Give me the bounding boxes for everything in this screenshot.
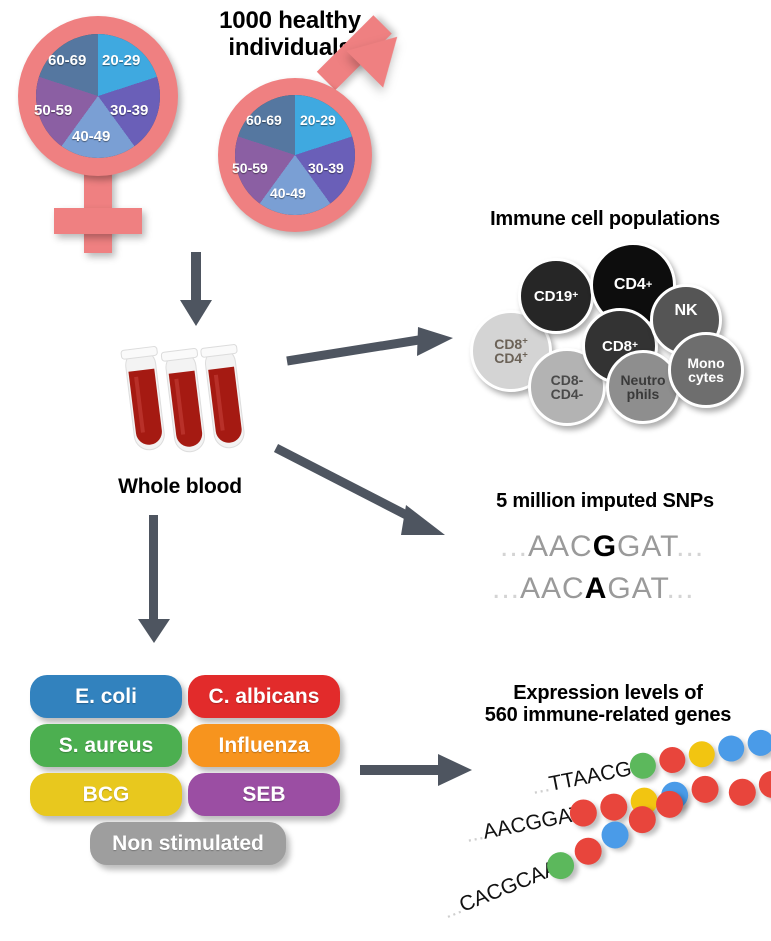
bead-red bbox=[726, 776, 758, 808]
stimulation-seb[interactable]: SEB bbox=[188, 773, 340, 816]
arrow-blood-to-stimulations bbox=[132, 515, 176, 645]
cell-label: CD8 bbox=[602, 339, 632, 354]
male-pie-label-30-39: 30-39 bbox=[308, 160, 344, 176]
cell-label: CD19 bbox=[534, 289, 572, 304]
pie-label-60-69: 60-69 bbox=[48, 52, 86, 69]
arrow-blood-to-snps bbox=[273, 443, 453, 543]
snp-sequence-row-2: ...AACAGAT... bbox=[492, 572, 695, 606]
snp-suffix: GAT bbox=[617, 530, 676, 563]
snp-lead-dots: ... bbox=[500, 530, 528, 563]
pie-label-50-59: 50-59 bbox=[34, 102, 72, 119]
arrow-cohort-to-blood bbox=[176, 252, 216, 328]
stimulation-panel: E. coli C. albicans S. aureus Influenza … bbox=[30, 675, 350, 895]
male-pie-label-20-29: 20-29 bbox=[300, 112, 336, 128]
stimulation-bcg[interactable]: BCG bbox=[30, 773, 182, 816]
stimulation-e-coli[interactable]: E. coli bbox=[30, 675, 182, 718]
stimulation-s-aureus[interactable]: S. aureus bbox=[30, 724, 182, 767]
strand-sequence: ...CACGCAA bbox=[440, 856, 562, 924]
cell-label-line1: Neutro bbox=[620, 373, 665, 387]
snp-prefix: AAC bbox=[528, 530, 593, 563]
female-cross-bar bbox=[54, 208, 142, 234]
snps-title: 5 million imputed SNPs bbox=[450, 490, 760, 512]
cell-cd19pos: CD19+ bbox=[518, 258, 594, 334]
snp-lead-dots: ... bbox=[492, 572, 520, 605]
bead-blue bbox=[716, 733, 746, 763]
snp-trail-dots: ... bbox=[667, 572, 695, 605]
stimulation-label: S. aureus bbox=[59, 734, 154, 758]
bead-yellow bbox=[687, 739, 717, 769]
whole-blood-label: Whole blood bbox=[80, 475, 280, 499]
expression-strands-group: ...TTAACGG ...AACGGAT ...CACGCAA bbox=[455, 740, 771, 920]
immune-cell-cluster: CD8+ CD4+ CD8- CD4- CD19+ CD4+ CD8+ NK N… bbox=[470, 240, 745, 425]
stimulation-label: SEB bbox=[242, 783, 285, 807]
stimulation-label: Non stimulated bbox=[112, 832, 264, 856]
snp-suffix: GAT bbox=[607, 572, 666, 605]
sup-plus: + bbox=[522, 335, 528, 346]
cell-label-line2: CD4- bbox=[551, 387, 584, 401]
stimulation-label: Influenza bbox=[218, 734, 309, 758]
cell-label-line2: cytes bbox=[688, 370, 724, 384]
strand-bases: AACGGAT bbox=[481, 802, 585, 844]
male-symbol: 20-29 30-39 40-49 50-59 60-69 bbox=[208, 30, 428, 250]
stimulation-influenza[interactable]: Influenza bbox=[188, 724, 340, 767]
sup-plus: + bbox=[522, 349, 528, 360]
snp-variant-allele: A bbox=[585, 572, 608, 605]
blood-tubes-group bbox=[110, 340, 270, 460]
cell-monocytes: Mono cytes bbox=[668, 332, 744, 408]
figure-canvas: 1000 healthy individuals 20-29 30-39 40-… bbox=[0, 0, 771, 922]
cell-label-line2: phils bbox=[627, 387, 660, 401]
pie-label-40-49: 40-49 bbox=[72, 128, 110, 145]
expression-title-line1: Expression levels of bbox=[452, 682, 764, 704]
cell-label-line2: CD4+ bbox=[494, 351, 528, 365]
snp-variant-allele: G bbox=[593, 530, 617, 563]
bead-red bbox=[657, 745, 687, 775]
expression-title: Expression levels of 560 immune-related … bbox=[452, 682, 764, 727]
bead-blue bbox=[745, 728, 771, 758]
cell-label-line1: Mono bbox=[687, 356, 724, 370]
female-symbol: 20-29 30-39 40-49 50-59 60-69 bbox=[10, 8, 200, 258]
stimulation-non-stimulated[interactable]: Non stimulated bbox=[90, 822, 286, 865]
snp-sequence-row-1: ...AACGGAT... bbox=[500, 530, 704, 564]
cell-label: NK bbox=[674, 303, 697, 319]
pie-label-30-39: 30-39 bbox=[110, 102, 148, 119]
immune-title: Immune cell populations bbox=[450, 208, 760, 230]
cell-label-line1: CD8- bbox=[551, 373, 584, 387]
stimulation-label: E. coli bbox=[75, 685, 137, 709]
snp-trail-dots: ... bbox=[676, 530, 704, 563]
stimulation-label: C. albicans bbox=[209, 685, 320, 709]
stimulation-c-albicans[interactable]: C. albicans bbox=[188, 675, 340, 718]
male-pie-label-60-69: 60-69 bbox=[246, 112, 282, 128]
arrow-blood-to-immune bbox=[285, 325, 455, 375]
strand-sequence: ...AACGGAT bbox=[464, 802, 585, 848]
stimulation-label: BCG bbox=[83, 783, 130, 807]
pie-label-20-29: 20-29 bbox=[102, 52, 140, 69]
snp-prefix: AAC bbox=[520, 572, 585, 605]
male-pie-label-40-49: 40-49 bbox=[270, 185, 306, 201]
cell-label: CD4 bbox=[614, 277, 646, 293]
blood-tubes-svg bbox=[110, 340, 270, 465]
expression-title-line2: 560 immune-related genes bbox=[452, 704, 764, 726]
male-pie-label-50-59: 50-59 bbox=[232, 160, 268, 176]
